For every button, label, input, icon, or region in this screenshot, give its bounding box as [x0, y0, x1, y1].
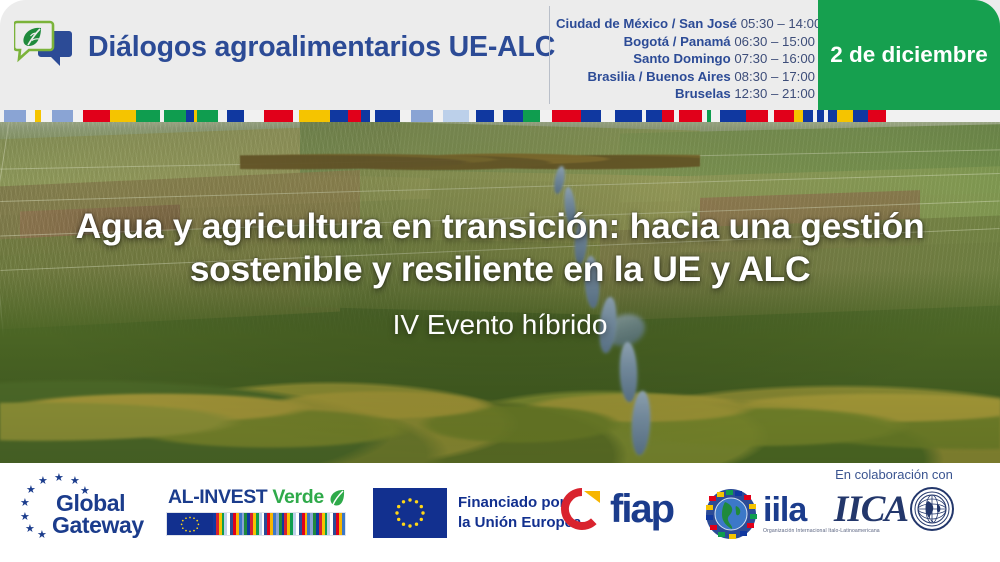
schedule-time: 07:30 – 16:00	[734, 51, 815, 66]
flag-segment	[523, 110, 540, 122]
brand-block: Diálogos agroalimentarios UE-ALC	[14, 18, 555, 76]
flag-segment	[330, 110, 348, 122]
date-badge: 2 de diciembre	[818, 0, 1000, 110]
flag-gap	[711, 110, 720, 122]
flag-segment	[646, 110, 662, 122]
fiap-wordmark: fiap	[610, 489, 673, 529]
flag-segment	[581, 110, 601, 122]
flag-gap	[540, 110, 552, 122]
collaboration-block: En colaboración con IICA	[806, 467, 982, 531]
leaf-icon	[329, 488, 346, 507]
flag-segment	[197, 110, 218, 122]
fiap-logo: fiap	[560, 487, 673, 531]
al-invest-text: AL-INVEST	[168, 486, 267, 509]
al-invest-flag-bars	[166, 512, 346, 536]
verde-text: Verde	[272, 486, 324, 509]
flag-gap	[469, 110, 476, 122]
schedule-city: Ciudad de México / San José	[556, 16, 737, 31]
hero-text-block: Agua y agricultura en transición: hacia …	[0, 205, 1000, 341]
schedule-time: 08:30 – 17:00	[734, 69, 815, 84]
flag-segment	[853, 110, 868, 122]
fiap-mark-icon	[560, 487, 604, 531]
event-banner: Agua y agricultura en transición: hacia …	[0, 0, 1000, 562]
global-gateway-line2: Gateway	[52, 512, 144, 539]
schedule-time: 12:30 – 21:00	[734, 86, 815, 101]
schedule-row: Santo Domingo 07:30 – 16:00	[556, 50, 815, 68]
leaf-speech-bubble-icon	[14, 18, 74, 76]
schedule-row: Ciudad de México / San José 05:30 – 14:0…	[556, 15, 815, 33]
flag-segment	[662, 110, 674, 122]
event-subtitle: IV Evento híbrido	[0, 309, 1000, 341]
flag-segment	[227, 110, 244, 122]
globe-flags-icon	[705, 488, 757, 540]
page-title: Diálogos agroalimentarios UE-ALC	[88, 31, 555, 64]
flag-segment	[774, 110, 794, 122]
flag-segment	[110, 110, 136, 122]
flag-segment	[828, 110, 837, 122]
flag-segment	[443, 110, 469, 122]
flag-segment	[552, 110, 581, 122]
flag-segment	[164, 110, 186, 122]
flag-segment	[837, 110, 853, 122]
flag-gap	[218, 110, 227, 122]
flag-segment	[348, 110, 361, 122]
schedule-time: 05:30 – 14:00	[741, 16, 822, 31]
flag-segment	[503, 110, 523, 122]
flag-segment	[264, 110, 293, 122]
flag-segment	[476, 110, 494, 122]
global-gateway-logo: ★ ★ ★ ★ ★ ★ ★ ★ ★ Global Gateway	[16, 474, 161, 540]
event-title: Agua y agricultura en transición: hacia …	[0, 205, 1000, 292]
flag-segment	[817, 110, 824, 122]
schedule-city: Bogotá / Panamá	[624, 34, 731, 49]
flag-segment	[746, 110, 768, 122]
schedule-city: Brasilia / Buenos Aires	[587, 69, 730, 84]
date-badge-label: 2 de diciembre	[830, 42, 988, 68]
schedule-row: Bruselas 12:30 – 21:00	[556, 85, 815, 103]
flag-segment	[868, 110, 886, 122]
flag-segment	[361, 110, 370, 122]
flag-segment	[720, 110, 746, 122]
flag-segment	[186, 110, 194, 122]
schedule-row: Bogotá / Panamá 06:30 – 15:00	[556, 33, 815, 51]
flag-segment	[411, 110, 433, 122]
schedule-list: Ciudad de México / San José 05:30 – 14:0…	[556, 15, 815, 103]
schedule-row: Brasilia / Buenos Aires 08:30 – 17:00	[556, 68, 815, 86]
header-divider	[549, 6, 550, 104]
flag-gap	[601, 110, 615, 122]
iica-seal-icon	[910, 487, 954, 531]
al-invest-verde-logo: AL-INVEST Verde	[166, 485, 346, 537]
eu-flag-icon	[167, 513, 213, 535]
flag-gap	[433, 110, 443, 122]
iica-logo: IICA	[806, 487, 982, 531]
flag-segment	[83, 110, 110, 122]
flag-segment	[803, 110, 813, 122]
flag-gap	[400, 110, 411, 122]
flag-segment	[136, 110, 160, 122]
flag-segment	[299, 110, 330, 122]
eu-flag-icon	[373, 488, 447, 538]
flag-gap	[73, 110, 83, 122]
flag-gap	[41, 110, 52, 122]
flag-gap	[26, 110, 35, 122]
eu-funding-logo: Financiado por la Unión Europea	[373, 488, 581, 538]
flag-segment	[4, 110, 26, 122]
flag-segment	[52, 110, 73, 122]
iica-wordmark: IICA	[834, 491, 908, 528]
flag-strip	[0, 110, 1000, 122]
schedule-city: Bruselas	[675, 86, 731, 101]
flag-segment	[375, 110, 400, 122]
schedule-time: 06:30 – 15:00	[734, 34, 815, 49]
flag-segment	[342, 513, 345, 535]
flag-gap	[244, 110, 264, 122]
collaboration-label: En colaboración con	[806, 467, 982, 482]
flag-segment	[679, 110, 702, 122]
schedule-city: Santo Domingo	[633, 51, 730, 66]
flag-segment	[794, 110, 803, 122]
flag-gap	[494, 110, 503, 122]
banner-footer: ★ ★ ★ ★ ★ ★ ★ ★ ★ Global Gateway AL-INVE…	[0, 463, 1000, 562]
flag-segment	[615, 110, 642, 122]
